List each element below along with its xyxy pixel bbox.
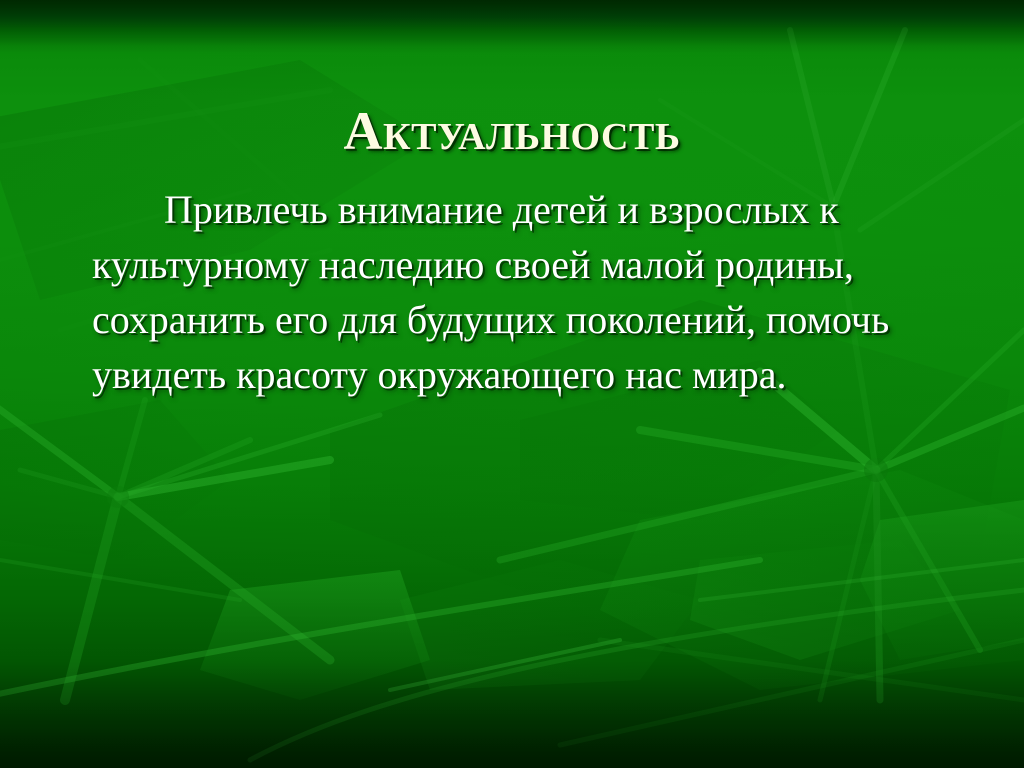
vein-group-lower	[0, 560, 1024, 760]
slide-title: Актуальность	[0, 100, 1024, 162]
slide-body-text: Привлечь внимание детей и взрослых к кул…	[92, 182, 962, 402]
presentation-slide: Актуальность Привлечь внимание детей и в…	[0, 0, 1024, 768]
vein-hub-left	[0, 380, 380, 700]
